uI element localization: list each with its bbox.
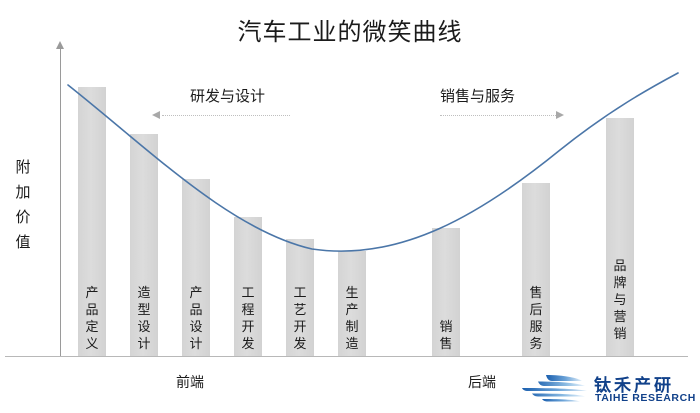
bar-label-char: 计 [130, 335, 158, 352]
bar-label-char: 产 [78, 284, 106, 301]
bar-label-char: 售 [522, 284, 550, 301]
bar-label-char: 品 [78, 301, 106, 318]
bar-label-char: 开 [286, 318, 314, 335]
bar-label-char: 造 [338, 335, 366, 352]
bar-label-char: 品 [182, 301, 210, 318]
y-axis-label-char: 值 [12, 230, 34, 255]
section-rule-sales [440, 115, 560, 117]
bar-engineering-development: 工 程 开 发 [234, 217, 262, 356]
bar-label-char: 制 [338, 318, 366, 335]
x-axis-line [5, 356, 688, 357]
arrow-right-icon [556, 111, 564, 119]
bar-label-char: 牌 [606, 274, 634, 291]
y-axis-line [60, 48, 61, 356]
bar-label-char: 造 [130, 284, 158, 301]
bar-label-char: 设 [182, 318, 210, 335]
bar-label-char: 发 [286, 335, 314, 352]
bar-label-char: 开 [234, 318, 262, 335]
bar-label-char: 服 [522, 318, 550, 335]
bar-label-char: 艺 [286, 301, 314, 318]
bar-label-char: 生 [338, 284, 366, 301]
x-axis-label-front: 前端 [176, 372, 204, 392]
bar-label-char: 型 [130, 301, 158, 318]
bar-label: 造 型 设 计 [130, 284, 158, 352]
y-axis-arrow-icon [56, 41, 64, 49]
bar-label: 产 品 设 计 [182, 284, 210, 352]
bar-label-char: 销 [432, 318, 460, 335]
bar-label: 售 后 服 务 [522, 284, 550, 352]
taihe-swoosh-icon [512, 372, 588, 406]
logo-name-en: TAIHE RESEARCH [595, 392, 696, 404]
bar-styling-design: 造 型 设 计 [130, 134, 158, 356]
brand-logo: 钛禾产研 TAIHE RESEARCH [512, 370, 692, 410]
arrow-left-icon [152, 111, 160, 119]
bar-label-char: 销 [606, 325, 634, 342]
y-axis-label-char: 加 [12, 180, 34, 205]
bar-label: 工 程 开 发 [234, 284, 262, 352]
bar-label-char: 义 [78, 335, 106, 352]
bar-label-char: 营 [606, 308, 634, 325]
section-rule-rd [162, 115, 290, 117]
bar-label-char: 品 [606, 257, 634, 274]
smile-curve-chart: 汽车工业的微笑曲线 附 加 价 值 研发与设计 销售与服务 产 品 定 义 造 … [0, 0, 700, 413]
bar-label: 产 品 定 义 [78, 284, 106, 352]
bar-brand-marketing: 品 牌 与 营 销 [606, 118, 634, 356]
bar-manufacturing: 生 产 制 造 [338, 251, 366, 356]
bar-label: 品 牌 与 营 销 [606, 257, 634, 342]
bar-label: 工 艺 开 发 [286, 284, 314, 352]
bar-product-design: 产 品 设 计 [182, 179, 210, 356]
bar-process-development: 工 艺 开 发 [286, 239, 314, 356]
bar-label-char: 工 [234, 284, 262, 301]
bar-label-char: 产 [182, 284, 210, 301]
bar-label-char: 设 [130, 318, 158, 335]
bar-label: 销 售 [432, 318, 460, 352]
bar-product-definition: 产 品 定 义 [78, 87, 106, 356]
bar-label: 生 产 制 造 [338, 284, 366, 352]
y-axis-label: 附 加 价 值 [12, 155, 34, 255]
bar-label-char: 与 [606, 291, 634, 308]
bar-label-char: 程 [234, 301, 262, 318]
bar-label-char: 后 [522, 301, 550, 318]
bar-label-char: 工 [286, 284, 314, 301]
x-axis-label-back: 后端 [468, 372, 496, 392]
bar-label-char: 发 [234, 335, 262, 352]
section-label-sales: 销售与服务 [440, 85, 515, 106]
bar-label-char: 售 [432, 335, 460, 352]
y-axis-label-char: 价 [12, 205, 34, 230]
y-axis-label-char: 附 [12, 155, 34, 180]
bar-label-char: 产 [338, 301, 366, 318]
page-title: 汽车工业的微笑曲线 [0, 12, 700, 47]
section-label-rd: 研发与设计 [190, 85, 265, 106]
bar-label-char: 务 [522, 335, 550, 352]
bar-sales: 销 售 [432, 228, 460, 356]
bar-label-char: 定 [78, 318, 106, 335]
bar-label-char: 计 [182, 335, 210, 352]
bar-after-sales-service: 售 后 服 务 [522, 183, 550, 356]
